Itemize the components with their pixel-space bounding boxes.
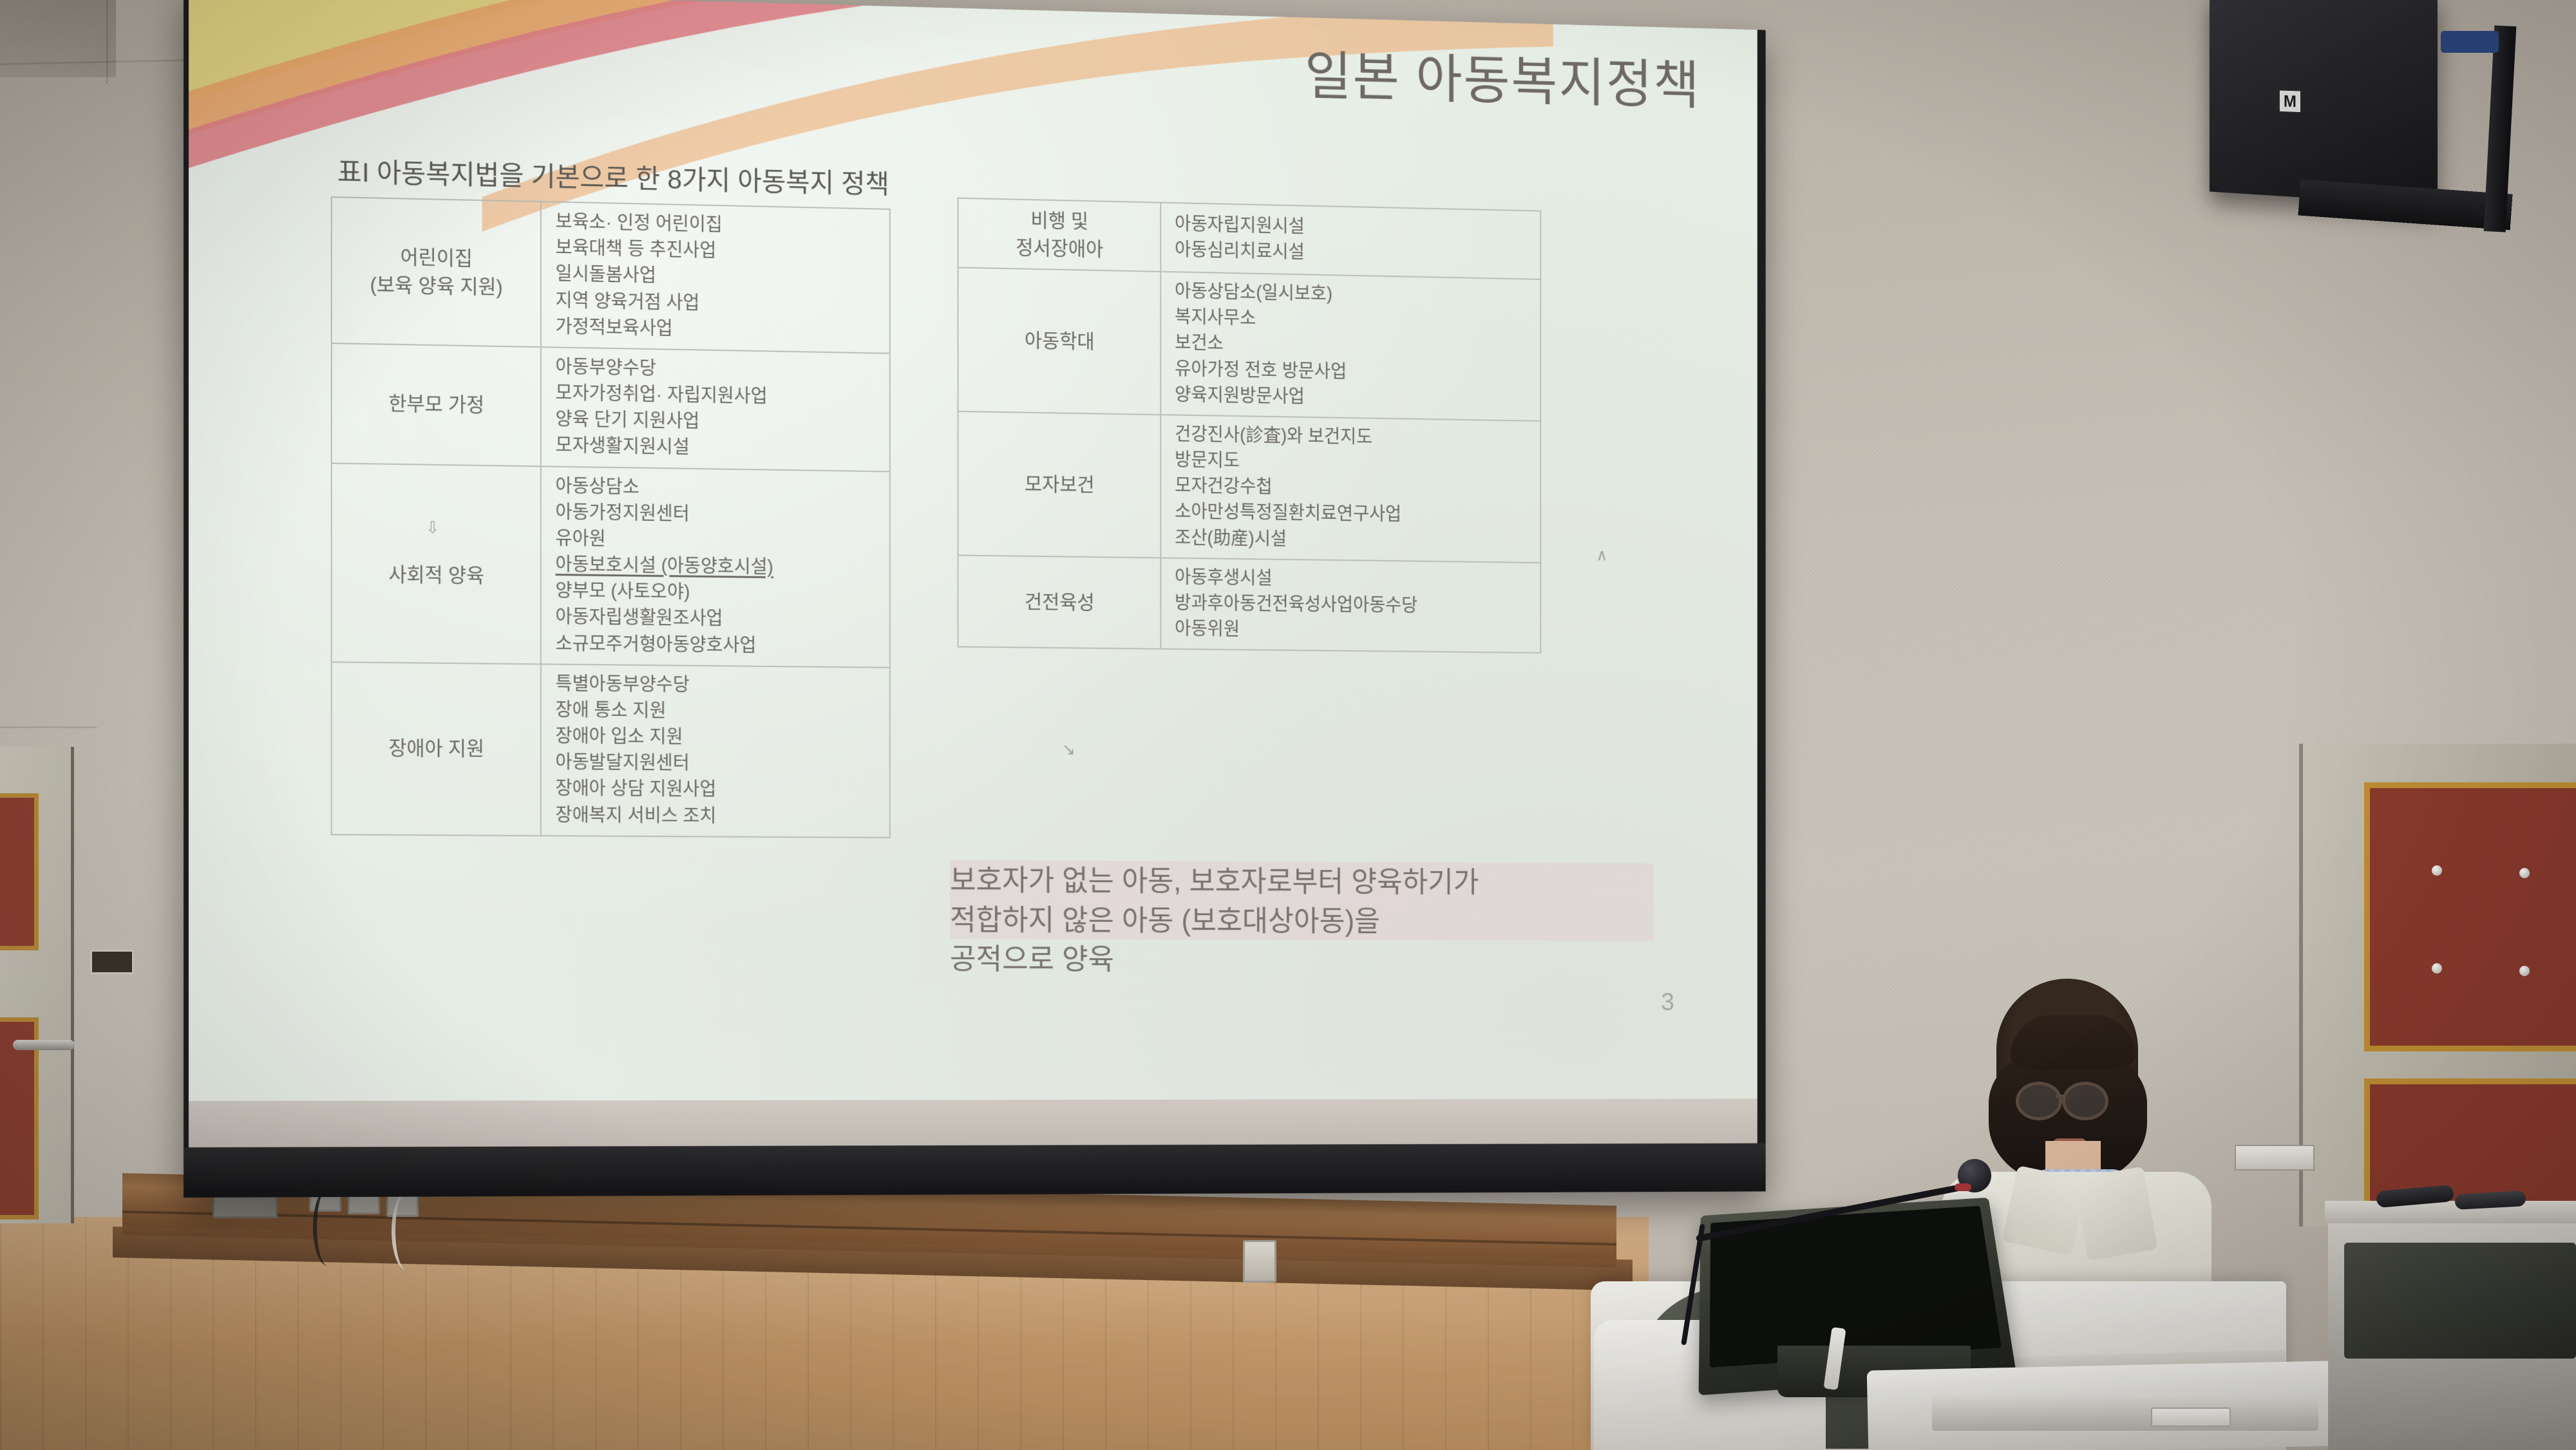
jacket-lapel-right — [2074, 1166, 2158, 1261]
policy-table-right: 비행 및 정서장애아 아동자립지원시설 아동심리치료시설 아동학대 아동상담소(… — [958, 198, 1542, 654]
eyeglasses-icon — [2062, 1082, 2108, 1120]
table-row: 어린이집 (보육 양육 지원) 보육소· 인정 어린이집 보육대책 등 추진사업… — [332, 197, 890, 353]
projection-surface: 일본 아동복지정책 표I 아동복지법을 기본으로 한 8가지 아동복지 정책 어… — [189, 0, 1757, 1147]
table-row: ⇩ 사회적 양육 아동상담소 아동가정지원센터 유아원 아동보호시설 (아동양호… — [332, 463, 890, 668]
screen-bottom-bar — [184, 1144, 1766, 1198]
callout-line-2: 적합하지 않은 아동 (보호대상아동)을 — [950, 899, 1653, 941]
table-category-cell: 모자보건 — [958, 411, 1160, 558]
table-items-cell: 아동상담소 아동가정지원센터 유아원 아동보호시설 (아동양호시설) 양부모 (… — [541, 466, 890, 668]
table-row: 장애아 지원 특별아동부양수당 장애 통소 지원 장애아 입소 지원 아동발달지… — [332, 662, 890, 838]
presenter-bangs — [2011, 1015, 2136, 1070]
pointer-mark-icon: ∧ — [1596, 545, 1608, 565]
table-items-cell: 아동자립지원시설 아동심리치료시설 — [1160, 203, 1540, 279]
table-category-cell: 아동학대 — [958, 267, 1160, 415]
side-desk-top — [2325, 1201, 2576, 1227]
table-category-cell: 장애아 지원 — [332, 662, 541, 836]
pointer-mark-icon: ⇩ — [337, 514, 528, 541]
power-cable — [313, 1189, 343, 1266]
door-handle[interactable] — [13, 1040, 75, 1050]
projection-screen: 일본 아동복지정책 표I 아동복지법을 기본으로 한 8가지 아동복지 정책 어… — [184, 0, 1766, 1198]
wall-seam — [0, 726, 97, 728]
side-desk-equipment — [2344, 1243, 2576, 1359]
speaker-brand-logo: M — [2280, 91, 2300, 113]
table-items-cell: 아동후생시설 방과후아동건전육성사업아동수당 아동위원 — [1160, 558, 1540, 653]
laptop-indicator — [2151, 1408, 2231, 1427]
table-row: 한부모 가정 아동부양수당 모자가정취업· 자립지원사업 양육 단기 지원사업 … — [332, 343, 890, 471]
table-items-cell: 특별아동부양수당 장애 통소 지원 장애아 입소 지원 아동발달지원센터 장애아… — [541, 664, 890, 837]
ceiling-corner — [0, 0, 116, 77]
callout-line-1: 보호자가 없는 아동, 보호자로부터 양육하기가 — [950, 860, 1653, 902]
table-row: 아동학대 아동상담소(일시보호) 복지사무소 보건소 유아가정 전호 방문사업 … — [958, 267, 1540, 420]
speaker-cable-connector — [2441, 31, 2499, 53]
table-items-cell: 보육소· 인정 어린이집 보육대책 등 추진사업 일시돌봄사업 지역 양육거점 … — [541, 202, 890, 353]
microphone-ring — [1955, 1183, 1971, 1191]
table-row: 비행 및 정서장애아 아동자립지원시설 아동심리치료시설 — [958, 198, 1540, 279]
power-outlet[interactable] — [1243, 1240, 1276, 1283]
wall-speaker: M — [2210, 0, 2438, 206]
eyeglasses-icon — [2016, 1082, 2062, 1120]
policy-table-left: 어린이집 (보육 양육 지원) 보육소· 인정 어린이집 보육대책 등 추진사업… — [331, 196, 891, 838]
eyeglasses-bridge — [2056, 1095, 2065, 1098]
laptop-keyboard[interactable] — [1932, 1396, 2318, 1431]
screen-lower-band — [189, 1098, 1757, 1147]
door-left[interactable] — [0, 747, 74, 1223]
slide-page-number: 3 — [1661, 988, 1674, 1016]
panel-stud — [2432, 963, 2442, 974]
table-category-cell: 한부모 가정 — [332, 343, 541, 466]
panel-stud — [2432, 865, 2442, 876]
door-panel — [0, 793, 39, 950]
callout-line-3: 공적으로 양육 — [950, 939, 1653, 979]
table-items-cell: 건강진사(診査)와 보건지도 방문지도 모자건강수첩 소아만성특정질환치료연구사… — [1160, 415, 1540, 563]
door-panel — [2364, 782, 2576, 1051]
panel-stud — [2519, 868, 2530, 878]
table-category-cell: ⇩ 사회적 양육 — [332, 463, 541, 664]
door-right[interactable] — [2299, 744, 2576, 1227]
table-category-cell: 건전육성 — [958, 555, 1160, 649]
table-row: 모자보건 건강진사(診査)와 보건지도 방문지도 모자건강수첩 소아만성특정질환… — [958, 411, 1540, 563]
panel-stud — [2519, 966, 2530, 976]
light-switch-plate[interactable] — [90, 950, 134, 974]
table-items-cell: 아동부양수당 모자가정취업· 자립지원사업 양육 단기 지원사업 모자생활지원시… — [541, 347, 890, 471]
table-category-cell: 어린이집 (보육 양육 지원) — [332, 197, 541, 347]
table-row: 건전육성 아동후생시설 방과후아동건전육성사업아동수당 아동위원 — [958, 555, 1540, 653]
wall-sign — [2235, 1145, 2315, 1171]
screenshot-root: M 일본 아동복지정책 표I 아동복지법을 기본으로 한 8가지 아동복지 정책 — [0, 0, 2576, 1450]
power-cable — [392, 1192, 421, 1270]
pointer-mark-icon: ↘ — [1062, 740, 1075, 759]
slide-title: 일본 아동복지정책 — [1305, 33, 1701, 119]
slide-canvas: 일본 아동복지정책 표I 아동복지법을 기본으로 한 8가지 아동복지 정책 어… — [189, 0, 1757, 1147]
table-items-cell: 아동상담소(일시보호) 복지사무소 보건소 유아가정 전호 방문사업 양육지원방… — [1160, 272, 1540, 421]
slide-callout: 보호자가 없는 아동, 보호자로부터 양육하기가 적합하지 않은 아동 (보호대… — [950, 860, 1653, 980]
wall-seam — [106, 0, 108, 84]
table-category-cell: 비행 및 정서장애아 — [958, 198, 1160, 272]
